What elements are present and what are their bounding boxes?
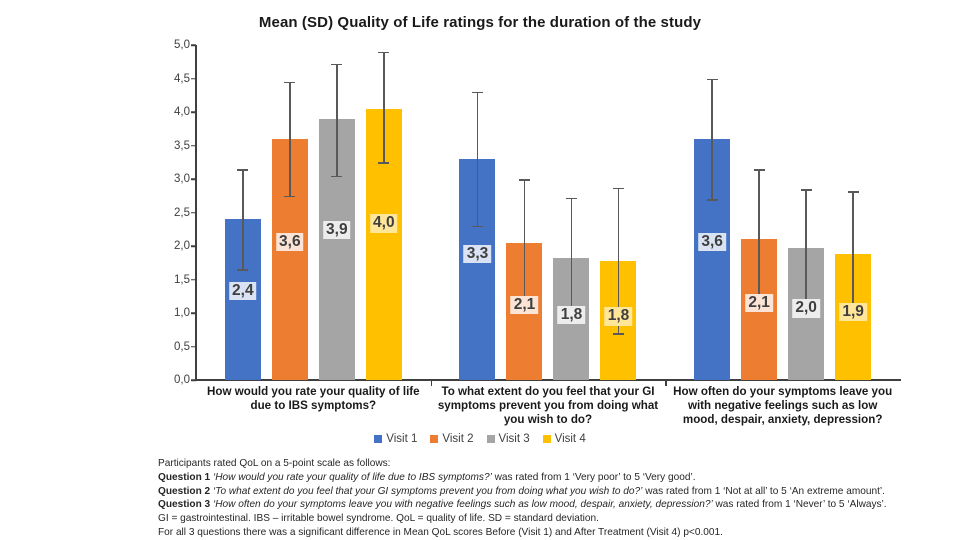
legend-swatch-icon	[374, 435, 382, 443]
bar-slot: 1,9	[835, 45, 871, 380]
question-3-text: ‘How often do your symptoms leave you wi…	[213, 499, 713, 510]
error-bar-cap-lower	[613, 333, 624, 335]
error-bar	[711, 79, 713, 200]
error-bar-cap-upper	[472, 92, 483, 94]
bar-value-label: 4,0	[370, 214, 398, 232]
bar-slot: 3,3	[459, 45, 495, 380]
legend-swatch-icon	[543, 435, 551, 443]
bar-value-label: 2,0	[792, 299, 820, 317]
y-tick-label: 1,5	[144, 274, 190, 286]
question-1-text: ‘How would you rate your quality of life…	[213, 472, 492, 483]
error-bar	[758, 169, 760, 306]
bar-slot: 1,8	[600, 45, 636, 380]
bar-slot: 1,8	[553, 45, 589, 380]
footnote-block: Participants rated QoL on a 5-point scal…	[158, 457, 948, 540]
error-bar-cap-upper	[613, 188, 624, 190]
bar-group: 2,43,63,94,0	[196, 45, 431, 380]
footnote-question-3: Question 3 ‘How often do your symptoms l…	[158, 498, 948, 512]
error-bar	[383, 52, 385, 163]
x-axis-category-label: How would you rate your quality of life …	[202, 385, 425, 413]
bar-slot: 2,0	[788, 45, 824, 380]
question-2-scale: was rated from 1 ‘Not at all’ to 5 ‘An e…	[645, 486, 885, 497]
footnote-significance: For all 3 questions there was a signific…	[158, 526, 948, 540]
footnote-question-2: Question 2 ‘To what extent do you feel t…	[158, 485, 948, 499]
bar-value-label: 3,6	[698, 233, 726, 251]
bar-value-label: 2,1	[745, 294, 773, 312]
error-bar-cap-lower	[707, 199, 718, 201]
y-tick-label: 4,5	[144, 73, 190, 85]
error-bar-cap-upper	[801, 189, 812, 191]
legend-item[interactable]: Visit 3	[487, 433, 530, 445]
legend-item[interactable]: Visit 1	[374, 433, 417, 445]
bar-slot: 4,0	[366, 45, 402, 380]
bar-value-label: 1,9	[839, 303, 867, 321]
x-axis-category-labels: How would you rate your quality of life …	[196, 385, 900, 460]
error-bar-cap-upper	[519, 179, 530, 181]
legend-label: Visit 2	[442, 433, 473, 445]
error-bar	[524, 179, 526, 303]
x-axis-group-separator	[431, 379, 433, 386]
y-tick-label: 1,0	[144, 307, 190, 319]
legend-item[interactable]: Visit 4	[543, 433, 586, 445]
chart-title: Mean (SD) Quality of Life ratings for th…	[0, 14, 960, 31]
bar-value-label: 3,3	[464, 245, 492, 263]
bar-slot: 3,6	[694, 45, 730, 380]
error-bar	[571, 198, 573, 317]
question-3-scale: was rated from 1 ‘Never’ to 5 ‘Always’.	[716, 499, 887, 510]
error-bar	[852, 191, 854, 316]
chart-page: Mean (SD) Quality of Life ratings for th…	[0, 0, 960, 540]
error-bar-cap-lower	[472, 226, 483, 228]
y-tick-label: 2,5	[144, 207, 190, 219]
bar-slot: 2,4	[225, 45, 261, 380]
legend-label: Visit 4	[555, 433, 586, 445]
y-tick-label: 5,0	[144, 39, 190, 51]
bar-value-label: 3,9	[323, 221, 351, 239]
bar-group: 3,62,12,01,9	[665, 45, 900, 380]
bar-value-label: 2,1	[511, 296, 539, 314]
bar-value-label: 3,6	[276, 233, 304, 251]
error-bar	[477, 92, 479, 226]
legend-swatch-icon	[430, 435, 438, 443]
legend-swatch-icon	[487, 435, 495, 443]
legend-label: Visit 1	[386, 433, 417, 445]
error-bar-cap-upper	[331, 64, 342, 66]
legend-item[interactable]: Visit 2	[430, 433, 473, 445]
bar-slot: 2,1	[741, 45, 777, 380]
bar-value-label: 1,8	[605, 307, 633, 325]
question-1-scale: was rated from 1 ‘Very poor’ to 5 ‘Very …	[495, 472, 696, 483]
y-tick-label: 2,0	[144, 240, 190, 252]
y-axis-tick-labels: 0,00,51,01,52,02,53,03,54,04,55,0	[140, 45, 190, 381]
error-bar	[242, 169, 244, 270]
y-tick-label: 4,0	[144, 106, 190, 118]
error-bar-cap-upper	[707, 79, 718, 81]
y-tick-label: 3,0	[144, 173, 190, 185]
footnote-line-intro: Participants rated QoL on a 5-point scal…	[158, 457, 948, 471]
footnote-abbreviations: GI = gastrointestinal. IBS – irritable b…	[158, 512, 948, 526]
error-bar-cap-upper	[754, 169, 765, 171]
y-tick-label: 3,5	[144, 140, 190, 152]
question-1-label: Question 1	[158, 472, 210, 483]
y-tick-label: 0,0	[144, 374, 190, 386]
bar-value-label: 2,4	[229, 282, 257, 300]
error-bar-cap-upper	[378, 52, 389, 54]
question-2-label: Question 2	[158, 486, 210, 497]
bar-group: 3,32,11,81,8	[431, 45, 666, 380]
question-2-text: ‘To what extent do you feel that your GI…	[213, 486, 642, 497]
error-bar-cap-lower	[331, 176, 342, 178]
bar-value-label: 1,8	[558, 306, 586, 324]
error-bar-cap-lower	[237, 269, 248, 271]
error-bar-cap-upper	[566, 198, 577, 200]
plot-area: 2,43,63,94,03,32,11,81,83,62,12,01,9	[196, 45, 900, 380]
x-axis-group-separator	[665, 379, 667, 386]
error-bar	[336, 64, 338, 176]
x-axis-category-label: To what extent do you feel that your GI …	[437, 385, 660, 427]
question-3-label: Question 3	[158, 499, 210, 510]
legend-label: Visit 3	[499, 433, 530, 445]
footnote-question-1: Question 1 ‘How would you rate your qual…	[158, 471, 948, 485]
error-bar-cap-upper	[284, 82, 295, 84]
bar-slot: 3,6	[272, 45, 308, 380]
error-bar-cap-upper	[848, 191, 859, 193]
error-bar-cap-lower	[378, 162, 389, 164]
error-bar	[805, 189, 807, 306]
error-bar-cap-upper	[237, 169, 248, 171]
error-bar	[289, 82, 291, 196]
x-axis-category-label: How often do your symptoms leave you wit…	[671, 385, 894, 427]
error-bar-cap-lower	[284, 196, 295, 198]
bar-slot: 3,9	[319, 45, 355, 380]
chart-legend: Visit 1Visit 2Visit 3Visit 4	[0, 433, 960, 445]
bar-slot: 2,1	[506, 45, 542, 380]
y-tick-label: 0,5	[144, 341, 190, 353]
